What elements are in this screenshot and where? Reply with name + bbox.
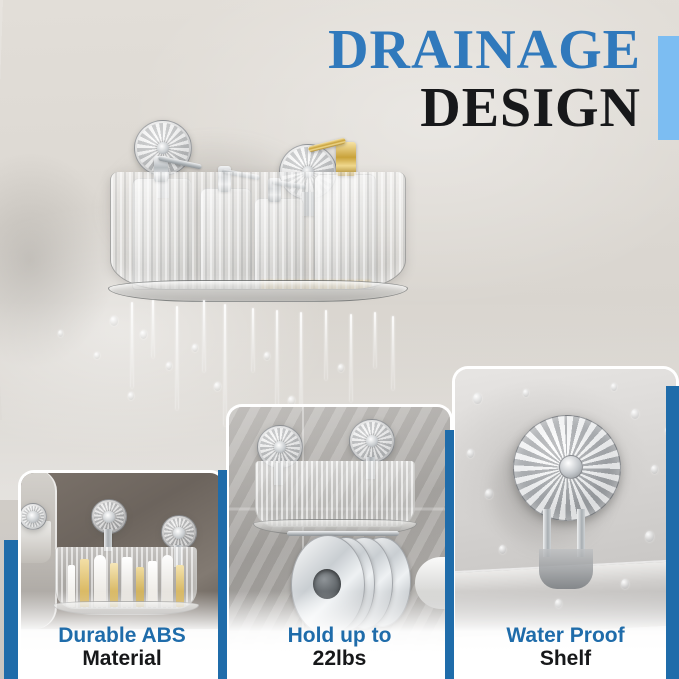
- feature-caption-water-proof: Water Proof Shelf: [455, 624, 676, 671]
- water-stream: [203, 300, 205, 372]
- water-stream: [176, 306, 178, 410]
- caption-line-2: Shelf: [455, 647, 676, 671]
- water-droplet: [110, 316, 118, 326]
- water-droplet: [140, 330, 147, 339]
- water-droplet: [94, 352, 100, 359]
- suction-cup-ridges: [22, 506, 44, 527]
- water-stream: [152, 300, 154, 358]
- divider-bar-2: [445, 430, 454, 679]
- caption-line-2: Material: [21, 647, 223, 671]
- water-droplet: [467, 449, 474, 458]
- water-droplet: [58, 330, 63, 337]
- caption-line-1: Hold up to: [229, 624, 450, 648]
- water-stream: [325, 310, 327, 380]
- suction-cup-ridges: [352, 422, 392, 460]
- feature-panel-hold-capacity: Hold up to 22lbs: [226, 404, 453, 679]
- suction-cup-ridges: [164, 518, 194, 547]
- water-droplet: [631, 409, 639, 419]
- water-droplet: [499, 545, 506, 554]
- water-droplet: [473, 393, 482, 404]
- water-stream: [276, 310, 278, 406]
- feature-caption-durable-abs: Durable ABS Material: [21, 624, 223, 671]
- water-stream: [252, 308, 254, 372]
- caption-line-1: Water Proof: [455, 624, 676, 648]
- water-droplet: [645, 531, 654, 542]
- feature-panel-durable-abs: Durable ABS Material: [18, 470, 226, 679]
- water-droplet: [651, 465, 658, 474]
- shelf-ribs: [256, 461, 414, 526]
- feature-panel-water-proof: Water Proof Shelf: [452, 366, 679, 679]
- caption-line-1: Durable ABS: [21, 624, 223, 648]
- water-droplet: [264, 352, 270, 360]
- water-stream: [374, 312, 376, 368]
- shelf-basket: [255, 461, 415, 527]
- water-droplet: [485, 489, 493, 499]
- hanging-rod: [287, 531, 399, 536]
- water-droplet: [338, 364, 344, 372]
- product-infographic: DRAINAGE DESIGN: [0, 0, 679, 679]
- water-stream: [224, 304, 226, 426]
- caption-line-2: 22lbs: [229, 647, 450, 671]
- water-stream: [131, 302, 133, 388]
- water-droplet: [523, 389, 529, 397]
- divider-bar-left: [4, 540, 18, 679]
- water-stream: [350, 314, 352, 402]
- water-droplet: [611, 383, 617, 391]
- water-droplet: [214, 382, 221, 391]
- water-droplet: [166, 362, 172, 370]
- divider-bar-right: [666, 386, 679, 679]
- water-stream: [392, 316, 394, 390]
- feature-caption-hold-capacity: Hold up to 22lbs: [229, 624, 450, 671]
- water-droplet: [128, 392, 134, 400]
- water-droplet: [192, 344, 198, 352]
- divider-bar-1: [218, 470, 227, 679]
- water-droplet: [621, 579, 629, 589]
- suction-cup-ridges: [94, 502, 124, 531]
- knob-center: [559, 455, 583, 479]
- mount-hook: [539, 549, 593, 589]
